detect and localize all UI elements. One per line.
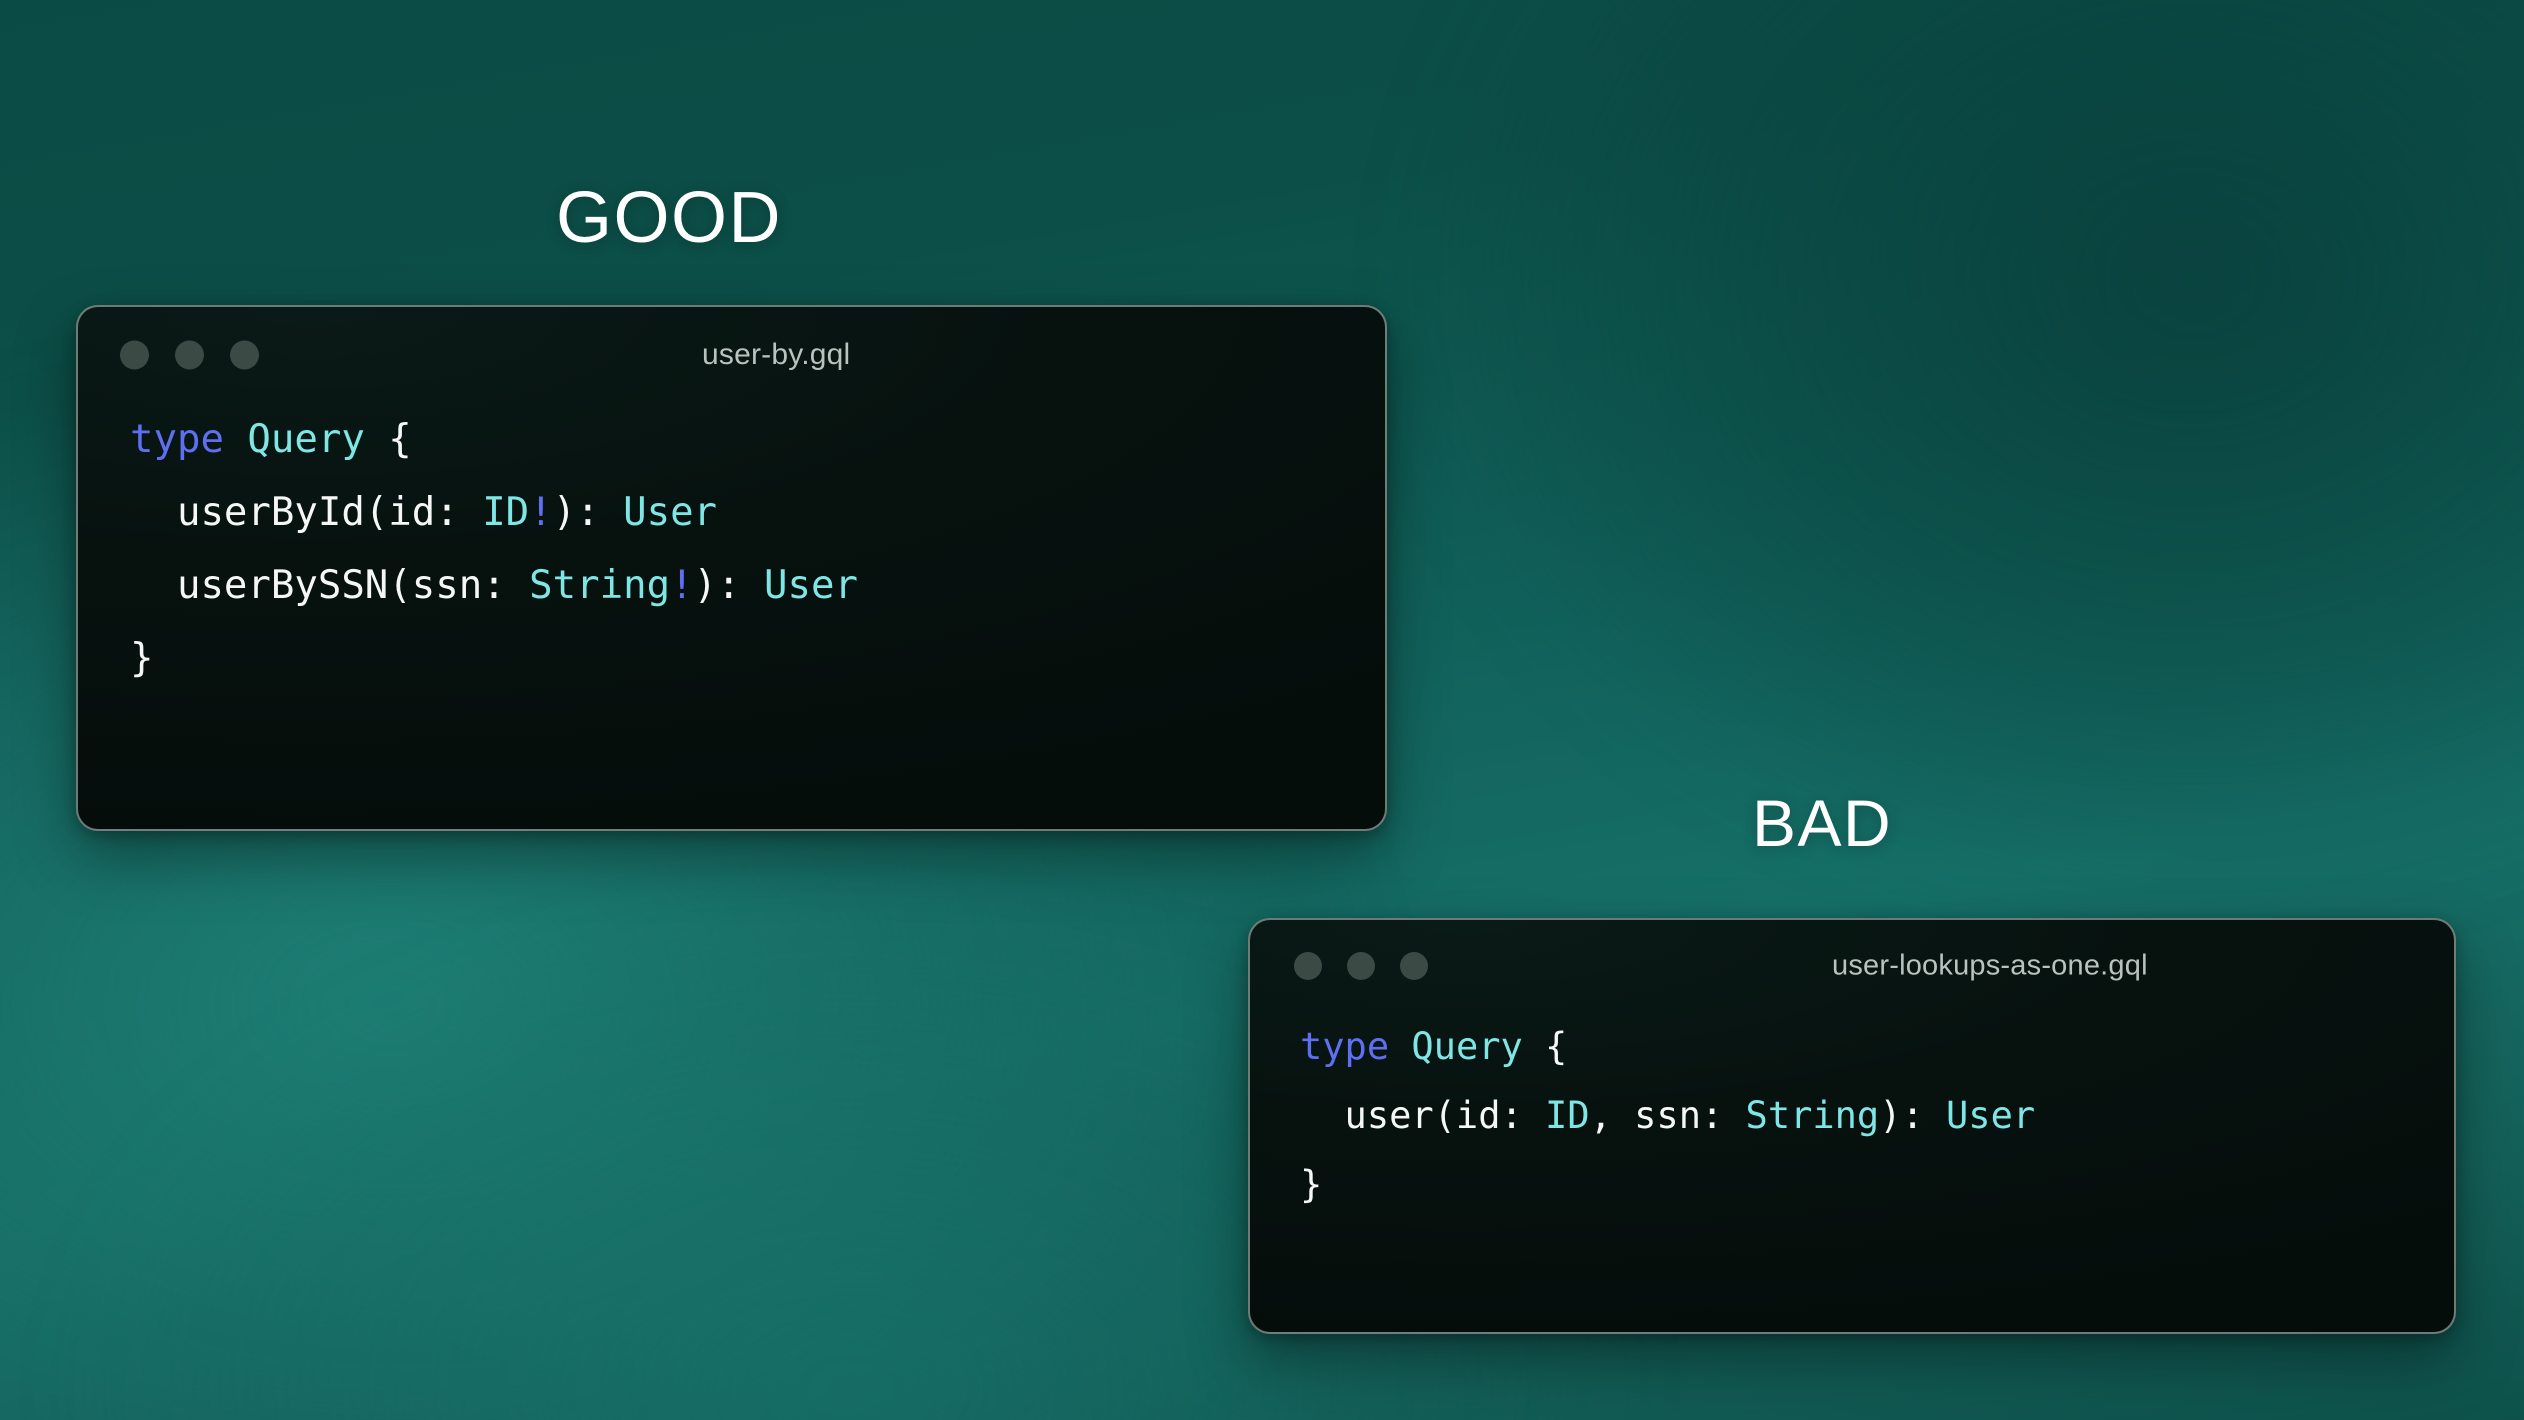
code-token-type: User <box>764 563 858 608</box>
minimize-dot-icon[interactable] <box>1347 952 1375 980</box>
traffic-lights-bad <box>1294 952 1428 980</box>
code-token-plain <box>224 417 247 462</box>
titlebar-good: user-by.gql <box>78 307 1385 403</box>
code-block-good: type Query { userById(id: ID!): User use… <box>78 403 1385 695</box>
code-token-plain: user(id: <box>1300 1094 1545 1137</box>
code-token-type: ID <box>482 490 529 535</box>
bad-label: BAD <box>1752 790 1892 856</box>
titlebar-bad: user-lookups-as-one.gql <box>1250 920 2454 1012</box>
traffic-lights-good <box>120 341 259 370</box>
code-token-punct: } <box>130 636 153 681</box>
code-token-type: Query <box>1411 1025 1522 1068</box>
code-window-good: user-by.gql type Query { userById(id: ID… <box>76 305 1387 831</box>
code-token-type: Query <box>247 417 364 462</box>
good-label: GOOD <box>556 182 782 254</box>
maximize-dot-icon[interactable] <box>230 341 259 370</box>
window-title-bad: user-lookups-as-one.gql <box>1828 950 2148 983</box>
code-token-plain: ): <box>1879 1094 1946 1137</box>
window-title-good: user-by.gql <box>698 338 850 372</box>
slide-canvas: GOOD BAD user-by.gql type Query { userBy… <box>0 0 2524 1420</box>
code-token-keyword: type <box>130 417 224 462</box>
code-token-plain: userById(id: <box>130 490 482 535</box>
code-line: type Query { <box>1300 1012 2454 1081</box>
close-dot-icon[interactable] <box>1294 952 1322 980</box>
code-token-type: User <box>1946 1094 2035 1137</box>
code-token-type: User <box>623 490 717 535</box>
code-token-punct: { <box>365 417 412 462</box>
code-line: user(id: ID, ssn: String): User <box>1300 1081 2454 1150</box>
code-token-bang: ! <box>670 563 693 608</box>
code-token-plain: ): <box>553 490 623 535</box>
code-token-plain <box>1389 1025 1411 1068</box>
code-token-punct: { <box>1523 1025 1568 1068</box>
code-line: } <box>130 622 1385 695</box>
minimize-dot-icon[interactable] <box>175 341 204 370</box>
code-line: userBySSN(ssn: String!): User <box>130 549 1385 622</box>
code-line: } <box>1300 1150 2454 1219</box>
code-token-type: ID <box>1545 1094 1590 1137</box>
code-line: type Query { <box>130 403 1385 476</box>
close-dot-icon[interactable] <box>120 341 149 370</box>
code-token-punct: } <box>1300 1163 1322 1206</box>
code-token-type: String <box>529 563 670 608</box>
code-token-keyword: type <box>1300 1025 1389 1068</box>
code-token-plain: , ssn: <box>1590 1094 1746 1137</box>
code-token-plain: userBySSN(ssn: <box>130 563 529 608</box>
code-token-type: String <box>1746 1094 1880 1137</box>
code-token-plain: ): <box>694 563 764 608</box>
code-token-bang: ! <box>529 490 552 535</box>
code-window-bad: user-lookups-as-one.gql type Query { use… <box>1248 918 2456 1334</box>
code-block-bad: type Query { user(id: ID, ssn: String): … <box>1250 1012 2454 1219</box>
maximize-dot-icon[interactable] <box>1400 952 1428 980</box>
code-line: userById(id: ID!): User <box>130 476 1385 549</box>
